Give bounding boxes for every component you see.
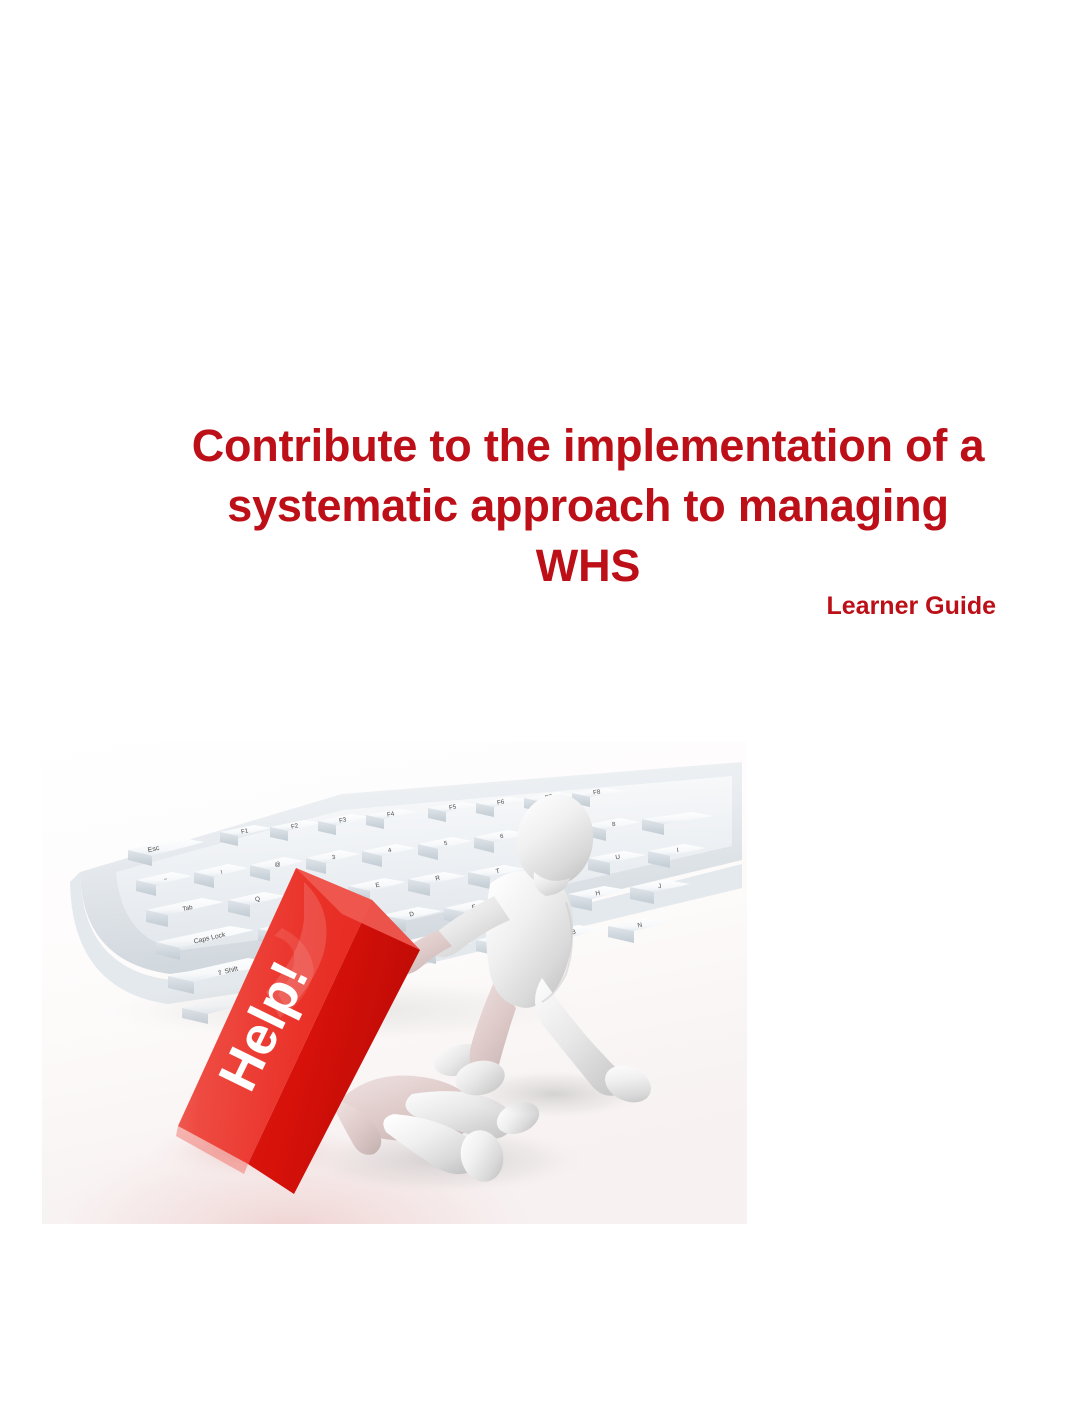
svg-text:@: @ xyxy=(274,861,281,868)
subtitle-row: Learner Guide xyxy=(180,591,996,621)
cover-page: Contribute to the implementation of a sy… xyxy=(0,0,1088,1408)
cover-illustration: 3D white figure lifting a large red bloc… xyxy=(42,742,747,1224)
help-scene-svg: Esc F1 F2 xyxy=(42,742,747,1224)
page-title: Contribute to the implementation of a sy… xyxy=(180,416,996,596)
title-block: Contribute to the implementation of a sy… xyxy=(180,416,996,596)
document-subtitle: Learner Guide xyxy=(827,591,997,621)
